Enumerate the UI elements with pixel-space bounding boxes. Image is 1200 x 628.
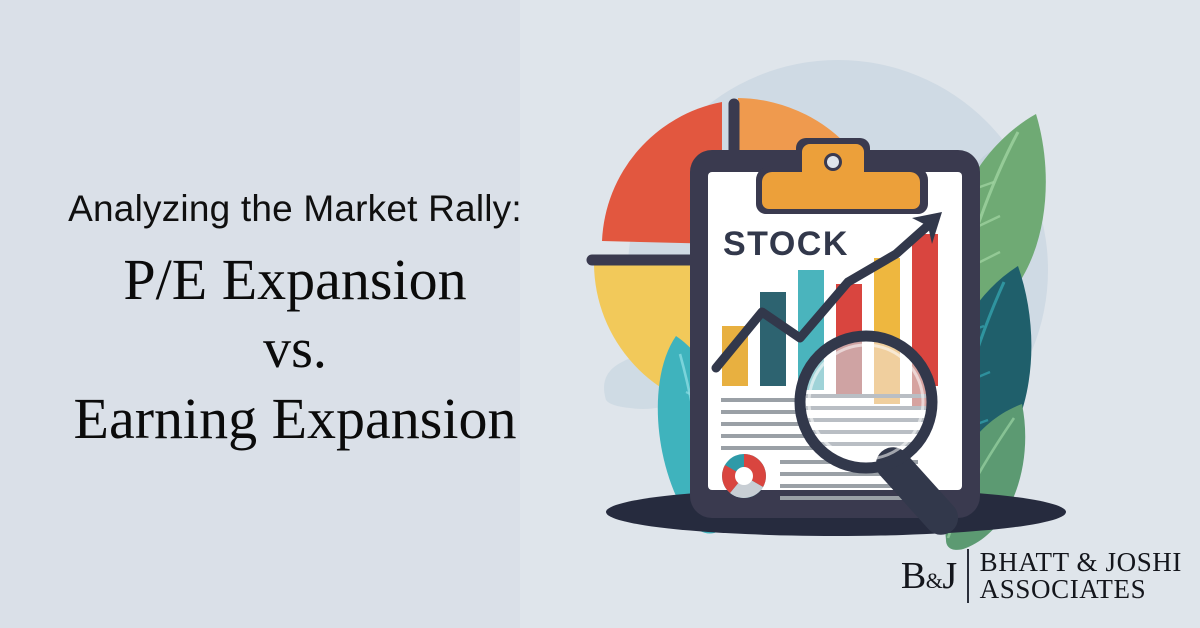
- kicker-text: Analyzing the Market Rally:: [0, 188, 590, 231]
- donut-chart: [722, 454, 766, 498]
- logo-name-line-2: ASSOCIATES: [980, 576, 1182, 604]
- logo-monogram-b: B: [901, 557, 926, 595]
- brand-logo[interactable]: B&J BHATT & JOSHI ASSOCIATES: [901, 549, 1182, 604]
- stock-label: STOCK: [723, 225, 849, 263]
- page-title: P/E Expansion vs. Earning Expansion: [0, 245, 590, 455]
- logo-wordmark: BHATT & JOSHI ASSOCIATES: [980, 549, 1182, 604]
- logo-name-line-1: BHATT & JOSHI: [980, 549, 1182, 577]
- logo-monogram-amp: &: [926, 570, 943, 592]
- headline-block: Analyzing the Market Rally: P/E Expansio…: [0, 188, 590, 454]
- headline-line-2: vs.: [0, 315, 590, 383]
- logo-monogram-j: J: [942, 557, 956, 595]
- logo-divider: [967, 549, 969, 603]
- logo-monogram: B&J: [901, 557, 967, 595]
- banner-root: STOCK: [0, 0, 1200, 628]
- headline-line-1: P/E Expansion: [0, 245, 590, 316]
- bar-2: [760, 292, 786, 386]
- headline-line-3: Earning Expansion: [0, 384, 590, 455]
- stock-analysis-illustration: STOCK: [548, 20, 1108, 560]
